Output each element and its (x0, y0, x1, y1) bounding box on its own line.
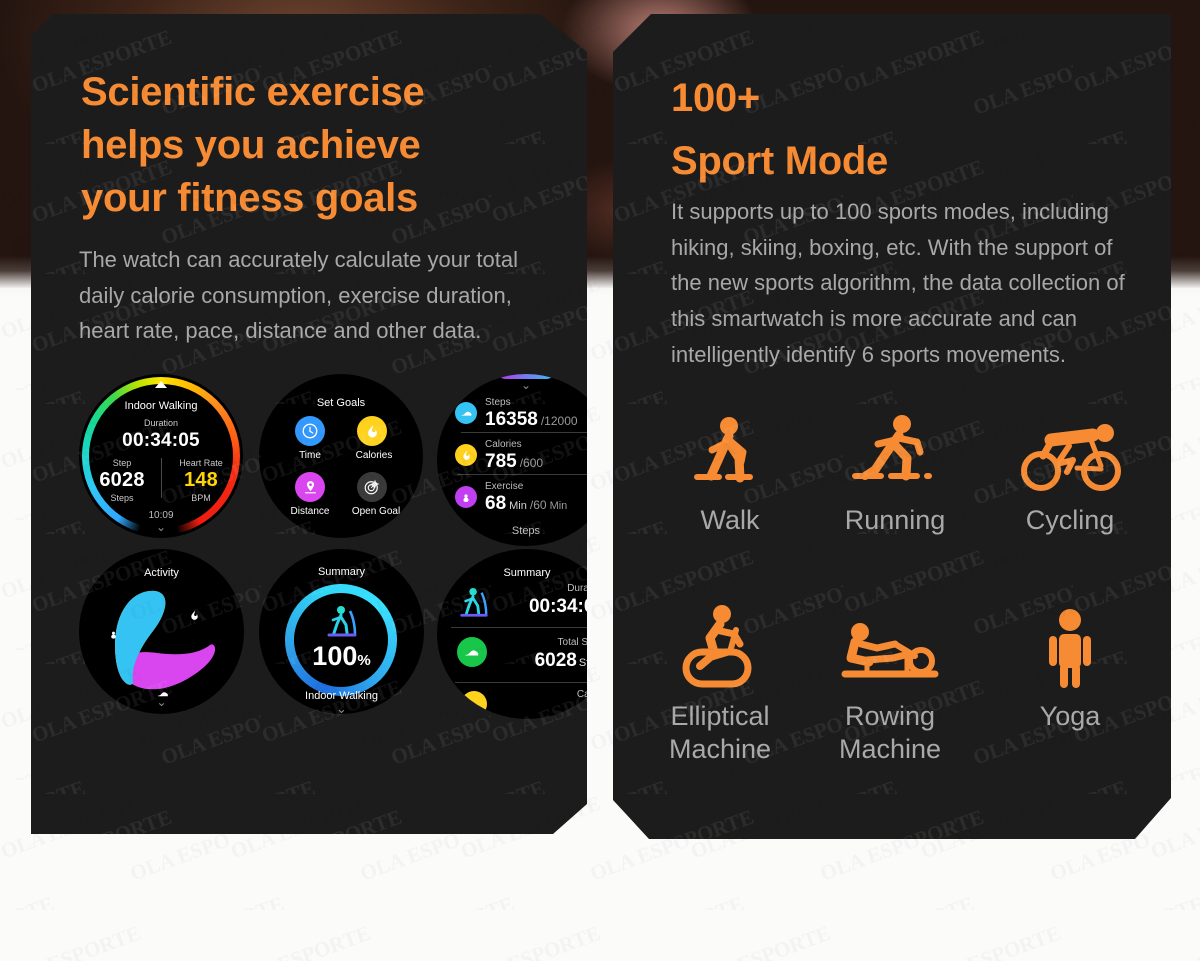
row-divider (457, 474, 601, 475)
target-icon[interactable] (357, 472, 387, 502)
left-panel-heading: Scientific exercise helps you achieve yo… (81, 66, 551, 226)
watch1-hr-label: Heart Rate (165, 458, 237, 468)
right-panel-body-text: It supports up to 100 sports modes, incl… (671, 194, 1149, 372)
watch-screen-set-goals: Set Goals Time Calories Distance Open Go… (259, 374, 423, 538)
sport-mode-cycling[interactable]: Cycling (985, 410, 1155, 537)
shoe-icon (455, 402, 477, 424)
watch5-percent: 100 (312, 641, 357, 671)
left-heading-line-2: helps you achieve (81, 119, 551, 172)
sport-mode-elliptical[interactable]: Elliptical Machine (635, 606, 805, 767)
watch1-title: Indoor Walking (79, 400, 243, 412)
right-panel-heading: 100+ Sport Mode (671, 72, 1141, 188)
chevron-down-icon: ⌄ (156, 695, 166, 709)
watch6-row-1-value: 6028 (535, 650, 577, 671)
watch1-divider (161, 458, 162, 498)
right-heading-line-2: Sport Mode (671, 135, 1141, 188)
shoe-icon (457, 637, 487, 667)
watch5-title: Summary (259, 566, 424, 578)
watch1-hr-unit: BPM (165, 493, 237, 503)
right-feature-panel: 100+ Sport Mode It supports up to 100 sp… (613, 14, 1171, 839)
watch3-row-1-label: Calories (485, 439, 543, 450)
flame-icon (189, 609, 200, 627)
watch3-row-2-target: /60 (530, 498, 547, 512)
sport-mode-yoga-label-line1: Yoga (985, 700, 1155, 733)
watch3-row-0-label: Steps (485, 397, 578, 408)
sport-mode-elliptical-label-line1: Elliptical (635, 700, 805, 733)
watch3-row-0-target: /12000 (541, 414, 578, 428)
right-heading-line-1: 100+ (671, 72, 1141, 125)
flame-icon (461, 691, 487, 717)
watch5-percent-symbol: % (357, 652, 370, 669)
sport-mode-walk-label: Walk (645, 504, 815, 537)
watch2-title: Set Goals (259, 397, 423, 409)
treadmill-icon (457, 587, 491, 624)
watch6-row-1-label: Total Steps (497, 637, 607, 648)
chevron-up-icon (155, 381, 167, 388)
chevron-down-icon: ⌄ (336, 701, 347, 714)
watch1-step-label: Step (87, 458, 157, 468)
sport-mode-elliptical-label-line2: Machine (635, 733, 805, 766)
chevron-down-icon: ⌄ (521, 378, 531, 392)
watch3-row-2-unit: Min (509, 500, 527, 512)
watch2-item-1-label: Calories (333, 450, 415, 461)
location-pin-icon[interactable] (295, 472, 325, 502)
sport-mode-cycling-label: Cycling (985, 504, 1155, 537)
exercise-icon (108, 628, 119, 646)
sport-mode-running-label: Running (810, 504, 980, 537)
watch1-step-value: 6028 (87, 469, 157, 492)
treadmill-icon (324, 605, 360, 644)
watch1-duration-label: Duration (79, 418, 243, 428)
running-person-icon (810, 410, 980, 496)
watch6-row-2-label: Calori (497, 689, 603, 700)
left-heading-line-3: your fitness goals (81, 172, 551, 225)
watch6-row-2-value: 7 (497, 702, 603, 719)
left-heading-line-1: Scientific exercise (81, 66, 551, 119)
left-panel-body-text: The watch can accurately calculate your … (79, 242, 559, 349)
row-divider (455, 682, 603, 683)
watch2-item-3-label: Open Goal (331, 506, 421, 517)
marketing-banner: Scientific exercise helps you achieve yo… (0, 0, 1200, 961)
exercise-icon (455, 486, 477, 508)
clock-icon[interactable] (295, 416, 325, 446)
elliptical-machine-icon (635, 606, 805, 692)
watch1-step-unit: Steps (87, 493, 157, 503)
watch-screen-workout-summary-ring: Summary 100% Indoor Walking (259, 549, 424, 714)
watch3-row-1-value: 785 (485, 451, 517, 473)
walking-person-icon (645, 410, 815, 496)
sport-mode-running[interactable]: Running (810, 410, 980, 537)
watch1-duration-value: 00:34:05 (79, 430, 243, 452)
left-feature-panel: Scientific exercise helps you achieve yo… (31, 14, 587, 834)
watch3-row-0-value: 16358 (485, 409, 538, 431)
watch-screen-activity-rings: Activity (79, 549, 244, 714)
standing-person-icon (985, 606, 1155, 692)
watch3-footer: Steps (437, 525, 615, 537)
watch3-row-2-label: Exercise (485, 481, 567, 492)
watch-screen-workout-summary-list: Summary Duration 00:34:05 (437, 549, 617, 719)
row-divider (451, 627, 607, 628)
sport-mode-walk[interactable]: Walk (645, 410, 815, 537)
watch1-hr-value: 148 (165, 469, 237, 492)
watch6-row-0-label: Duration (497, 583, 605, 594)
watch6-title: Summary (437, 567, 617, 579)
sport-mode-rowing-label-line1: Rowing (805, 700, 975, 733)
sport-mode-rowing[interactable]: Rowing Machine (805, 606, 975, 767)
flame-icon (455, 444, 477, 466)
watch3-row-2-value: 68 (485, 493, 506, 515)
watch6-row-0-value: 00:34:05 (497, 596, 605, 618)
rowing-machine-icon (805, 606, 975, 692)
watch-screen-daily-goals: ⌄ Steps 16358 /12000 Calories (437, 374, 615, 546)
watch6-row-1-unit: Steps (579, 657, 607, 669)
watch3-row-2-target-unit: Min (550, 500, 568, 512)
watch3-row-1-target: /600 (520, 456, 543, 470)
flame-icon[interactable] (357, 416, 387, 446)
chevron-down-icon: ⌄ (156, 520, 166, 534)
sport-mode-rowing-label-line2: Machine (805, 733, 975, 766)
sport-mode-yoga[interactable]: Yoga (985, 606, 1155, 733)
cyclist-icon (985, 410, 1155, 496)
watch-screen-indoor-walking-live: Indoor Walking Duration 00:34:05 Step 60… (79, 374, 243, 538)
row-divider (461, 432, 597, 433)
